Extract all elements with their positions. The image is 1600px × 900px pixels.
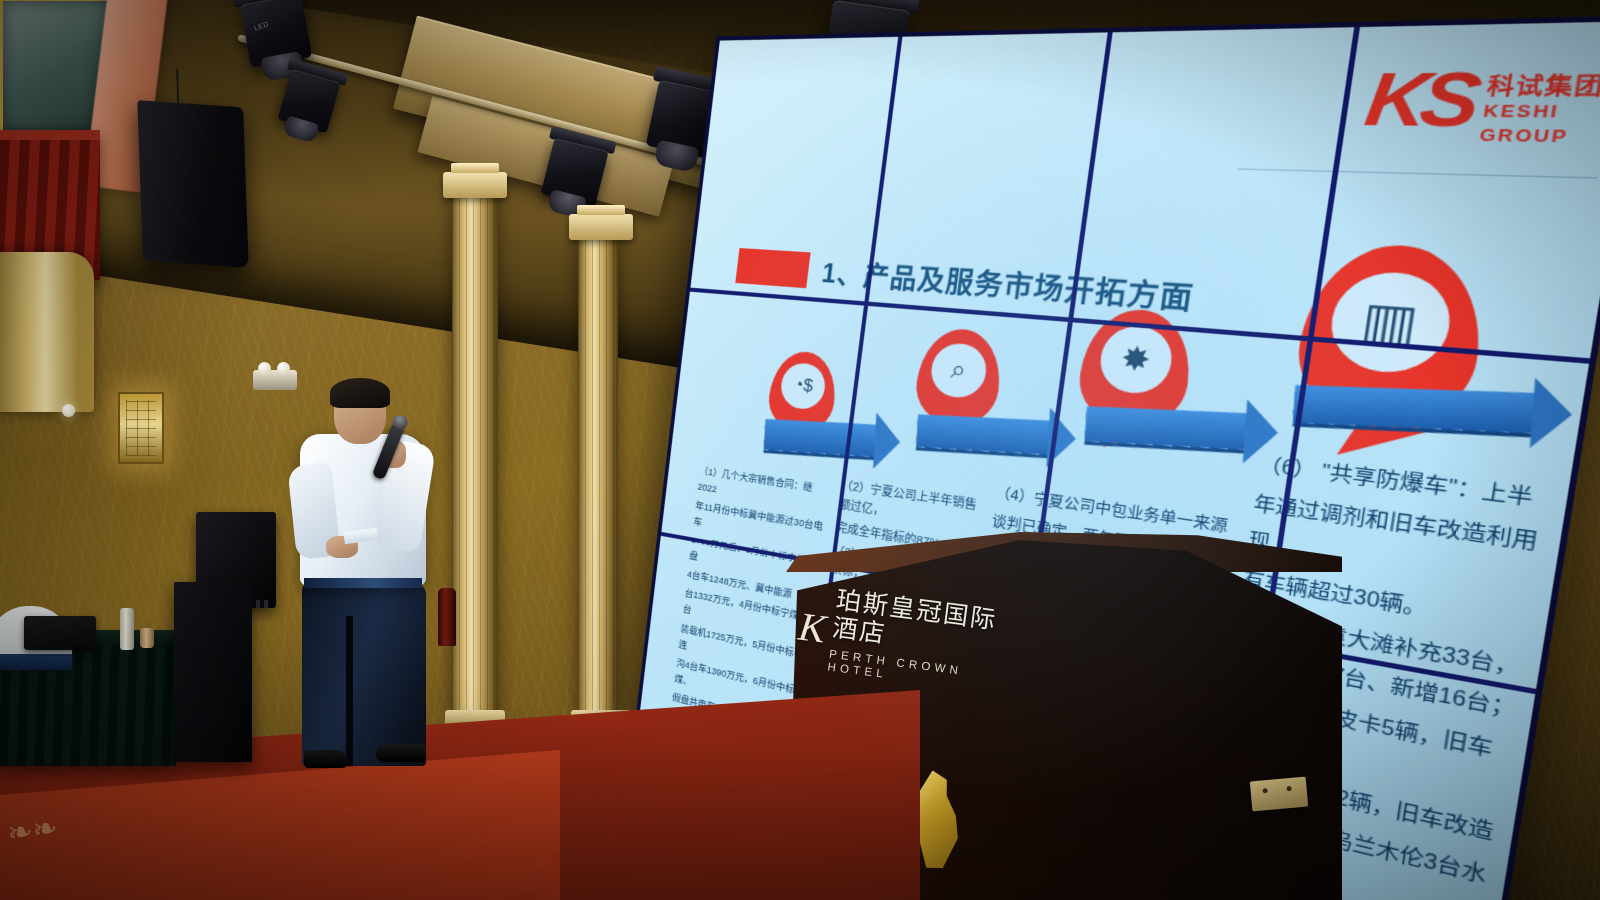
pin-shape: ▥ (1313, 241, 1493, 357)
brand-name-en-1: KESHI (1482, 101, 1561, 122)
slide-text-line: （1）几个大宗销售合同：继2022 (697, 463, 833, 517)
brand-wordmark: 科试集团 KESHI GROUP (1478, 75, 1600, 148)
presenter-hair (330, 378, 390, 408)
decorative-column-left (452, 196, 498, 716)
photo-scene: LED (0, 0, 1600, 900)
panel-r1c4: KS 科试集团 KESHI GROUP 1、产品及服务市场开拓方面 ◔$ (1313, 21, 1600, 358)
map-pin-2: ⌕ (911, 326, 1005, 430)
pin-shape: ◔$ (765, 348, 840, 435)
map-pin-3: ✸ (1074, 322, 1198, 433)
subwoofer-cabinet (174, 582, 252, 762)
slide-text-line: （4）宁夏公司中包业务单一来源 (1035, 480, 1234, 540)
presentation-slide: KS 科试集团 KESHI GROUP 1、产品及服务市场开拓方面 ◔$ (1073, 27, 1353, 335)
presentation-slide: KS 科试集团 KESHI GROUP 1、产品及服务市场开拓方面 ◔$ (1313, 21, 1600, 358)
presentation-slide: KS 科试集团 KESHI GROUP 1、产品及服务市场开拓方面 ◔$ (661, 291, 863, 562)
hotel-name-block: 珀斯皇冠国际酒店 PERTH CROWN HOTEL (827, 587, 1015, 698)
slide-text-line: 装载机1725万元，5月份中标不连 (678, 621, 811, 682)
brand-name-en-2: GROUP (1478, 124, 1570, 145)
hotel-name-cn: 珀斯皇冠国际酒店 (831, 587, 999, 649)
pin-shape: ⌕ (911, 326, 1005, 430)
ks-monogram: KS (1362, 70, 1478, 132)
wall-power-outlet (1250, 777, 1308, 812)
map-pin-1: ◔$ (765, 348, 840, 435)
wall-sconce-lamp (118, 392, 164, 464)
slide-title: 1、产品及服务市场开拓方面 (868, 252, 1108, 317)
panel-r1c1: KS 科试集团 KESHI GROUP 1、产品及服务市场开拓方面 ◔$ (690, 37, 897, 301)
presenter-shoe-right (376, 744, 426, 762)
map-pin-4: ▥ (1289, 341, 1494, 433)
hanging-speaker (137, 100, 249, 268)
panel-r1c2: KS 科试集团 KESHI GROUP 1、产品及服务市场开拓方面 ◔$ (868, 32, 1108, 317)
brand-name-cn: 科试集团 (1485, 73, 1600, 99)
slide-title-row: 1、产品及服务市场开拓方面 (1073, 247, 1196, 318)
logo-underline (1313, 168, 1596, 178)
process-arrow-4 (1292, 385, 1536, 433)
gear-icon: ✸ (1096, 323, 1176, 396)
column-capital (443, 172, 507, 198)
process-arrow-3 (1085, 406, 1249, 450)
light-brand-label: LED (253, 21, 270, 32)
panel-r1c3: KS 科试集团 KESHI GROUP 1、产品及服务市场开拓方面 ◔$ (1073, 27, 1353, 335)
presenter-trousers (302, 584, 426, 766)
pin-row: ◔$ ⌕ ✸ ▥ (835, 306, 1068, 559)
presenter-person (286, 378, 456, 770)
pin-row: ◔$ ⌕ ✸ ▥ (1035, 322, 1307, 559)
hotel-logo-mark: K (797, 608, 828, 647)
presenter-shoe-left (304, 750, 348, 768)
magnifier-icon: ⌕ (928, 341, 989, 400)
pin-row: ◔$ ⌕ ✸ ▥ (1073, 257, 1353, 335)
gold-wall-panel (0, 252, 94, 412)
pin-shape: ✸ (1074, 322, 1198, 433)
slide-text-line: （2）宁夏公司上半年销售额过亿， (838, 476, 982, 538)
water-bottle (120, 608, 134, 650)
paper-cup (140, 628, 154, 648)
column-capital (569, 214, 633, 240)
slide-title-row: 1、产品及服务市场开拓方面 (868, 247, 1108, 317)
decor-light-ball (62, 404, 75, 417)
pin-row: ◔$ ⌕ ✸ ▥ (1268, 341, 1527, 559)
map-pin-4: ▥ (1313, 241, 1493, 357)
arrow-row (1268, 347, 1520, 574)
keshi-group-logo: KS 科试集团 KESHI GROUP (1360, 69, 1600, 148)
decorative-column-right (578, 238, 618, 716)
slide-text-line: 年通过调剂和旧车改造利用现 (1268, 487, 1547, 604)
presenter-belt (304, 578, 422, 588)
panel-r2c1: KS 科试集团 KESHI GROUP 1、产品及服务市场开拓方面 ◔$ (661, 291, 863, 562)
slide-text-line: （6） "共享防爆车"：上半 (1268, 447, 1555, 521)
process-arrow-2 (916, 414, 1052, 455)
laptop[interactable] (24, 616, 96, 650)
presentation-slide: KS 科试集团 KESHI GROUP 1、产品及服务市场开拓方面 ◔$ (690, 37, 897, 301)
title-red-chip (735, 248, 810, 288)
pin-shape: ▥ (1289, 341, 1494, 433)
money-clock-icon: ◔$ (779, 361, 827, 410)
trouser-seam (346, 616, 353, 766)
presentation-slide: KS 科试集团 KESHI GROUP 1、产品及服务市场开拓方面 ◔$ (868, 32, 1108, 317)
slide-title: 1、产品及服务市场开拓方面 (1073, 252, 1196, 318)
monitor-chart-icon: ▥ (1325, 341, 1458, 377)
